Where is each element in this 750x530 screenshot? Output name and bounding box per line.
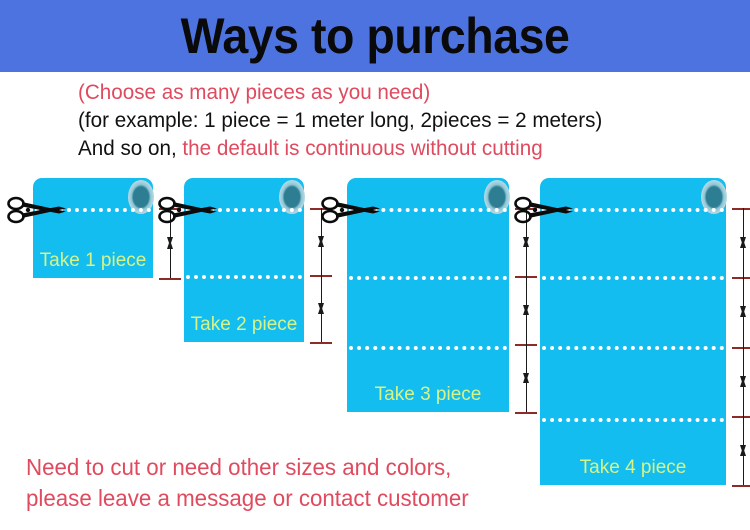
dimension-arrow-icon (526, 208, 527, 276)
dimension-tick (515, 276, 537, 278)
roll-3-piece: Take 3 piece (347, 178, 509, 412)
dimension-tick (732, 208, 750, 210)
scissors-icon (158, 195, 220, 225)
dimension-arrow-icon (321, 208, 322, 275)
dimension-arrow-icon (321, 275, 322, 342)
dimension-arrowhead-up (318, 305, 324, 314)
dimension-tick (515, 344, 537, 346)
intro-line-1: (Choose as many pieces as you need) (78, 78, 712, 106)
purchase-options-infographic: Ways to purchase (Choose as many pieces … (0, 0, 750, 530)
footer-line-1: Need to cut or need other sizes and colo… (26, 452, 530, 483)
dimension-tick (732, 485, 750, 487)
scissors-icon (321, 195, 383, 225)
dimension-arrowhead-down (318, 303, 324, 312)
roll-core-icon (701, 180, 727, 214)
intro-line-2: (for example: 1 piece = 1 meter long, 2p… (78, 106, 712, 134)
perforation-dotted-line (349, 276, 507, 284)
roll-core-icon (484, 180, 510, 214)
dimension-arrow-icon (170, 208, 171, 278)
page-title: Ways to purchase (181, 11, 570, 61)
dimension-tick (515, 208, 537, 210)
dimension-arrowhead-up (167, 240, 173, 249)
dimension-arrowhead-down (740, 376, 746, 385)
dimension-arrowhead-up (523, 238, 529, 247)
dimension-tick (310, 208, 332, 210)
dimension-arrowhead-up (318, 238, 324, 247)
perforation-dotted-line (542, 276, 724, 284)
intro-line-3-red: the default is continuous without cuttin… (182, 136, 542, 160)
dimension-arrowhead-down (523, 373, 529, 382)
intro-line-3: And so on, the default is continuous wit… (78, 134, 712, 162)
dimension-tick (732, 347, 750, 349)
dimension-tick (732, 416, 750, 418)
dimension-tick (159, 278, 181, 280)
dimension-tick (310, 275, 332, 277)
perforation-dotted-line (186, 275, 302, 283)
dimension-tick (159, 208, 181, 210)
roll-core-icon (128, 180, 154, 214)
dimension-arrowhead-down (523, 237, 529, 246)
dimension-arrowhead-up (740, 447, 746, 456)
dimension-tick (515, 412, 537, 414)
perforation-dotted-line (349, 346, 507, 354)
scissors-icon (514, 195, 576, 225)
footer-line-2: please leave a message or contact custom… (26, 483, 530, 514)
roll-label-1: Take 1 piece (33, 250, 153, 272)
dimension-arrow-icon (743, 277, 744, 346)
roll-2-piece: Take 2 piece (184, 178, 304, 342)
dimension-arrow-icon (743, 347, 744, 416)
dimension-arrowhead-up (523, 374, 529, 383)
dimension-arrowhead-up (740, 239, 746, 248)
dimension-arrowhead-up (523, 306, 529, 315)
perforation-dotted-line (349, 208, 507, 216)
roll-4-piece: Take 4 piece (540, 178, 726, 485)
dimension-arrow-icon (743, 208, 744, 277)
roll-label-4: Take 4 piece (540, 457, 726, 479)
dimension-arrowhead-down (318, 236, 324, 245)
dimension-arrow-icon (743, 416, 744, 485)
dimension-arrowhead-down (167, 237, 173, 246)
perforation-dotted-line (542, 418, 724, 426)
dimension-arrowhead-up (740, 378, 746, 387)
perforation-dotted-line (186, 208, 302, 216)
dimension-arrowhead-down (740, 237, 746, 246)
roll-1-piece: Take 1 piece (33, 178, 153, 278)
dimension-arrow-icon (526, 276, 527, 344)
perforation-dotted-line (542, 208, 724, 216)
dimension-tick (310, 342, 332, 344)
scissors-icon (7, 195, 69, 225)
roll-core-icon (279, 180, 305, 214)
dimension-arrowhead-up (740, 308, 746, 317)
dimension-arrowhead-down (740, 306, 746, 315)
dimension-arrowhead-down (740, 445, 746, 454)
intro-line-3-black: And so on, (78, 136, 177, 160)
roll-label-3: Take 3 piece (347, 384, 509, 406)
perforation-dotted-line (35, 208, 151, 216)
dimension-tick (732, 277, 750, 279)
dimension-arrow-icon (526, 344, 527, 412)
perforation-dotted-line (542, 346, 724, 354)
footer-text-block: Need to cut or need other sizes and colo… (26, 452, 546, 514)
dimension-arrowhead-down (523, 305, 529, 314)
roll-label-2: Take 2 piece (184, 314, 304, 336)
header-banner: Ways to purchase (0, 0, 750, 72)
intro-text-block: (Choose as many pieces as you need) (for… (78, 78, 738, 162)
